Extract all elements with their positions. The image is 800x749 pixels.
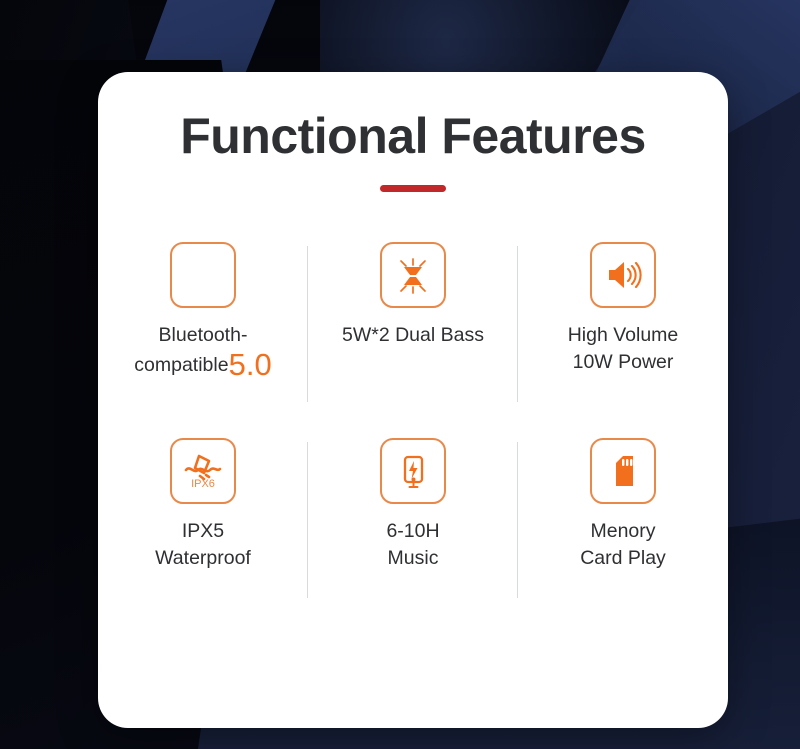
waterproof-icon: IPX6	[170, 438, 236, 504]
bluetooth-icon	[170, 242, 236, 308]
dual-bass-speaker-icon	[380, 242, 446, 308]
feature-grid: Bluetooth- compatible5.0	[98, 234, 728, 626]
feature-item-waterproof: IPX6 IPX5 Waterproof	[98, 430, 308, 626]
feature-label-waterproof: IPX5 Waterproof	[155, 518, 251, 573]
feature-label-bluetooth-version: 5.0	[229, 347, 272, 382]
waterproof-icon-rating: IPX6	[191, 478, 215, 490]
page-title: Functional Features	[98, 110, 728, 163]
title-underline	[98, 185, 728, 192]
feature-card: Functional Features Bluetooth- compatibl…	[98, 72, 728, 728]
feature-label-battery: 6-10H Music	[386, 518, 439, 573]
feature-label-dual-bass: 5W*2 Dual Bass	[342, 322, 484, 350]
battery-charge-icon	[380, 438, 446, 504]
feature-item-bluetooth: Bluetooth- compatible5.0	[98, 234, 308, 430]
feature-label-high-volume: High Volume 10W Power	[568, 322, 679, 377]
high-volume-speaker-icon	[590, 242, 656, 308]
feature-label-memory-card: Menory Card Play	[580, 518, 666, 573]
feature-item-high-volume: High Volume 10W Power	[518, 234, 728, 430]
underline-bar	[380, 185, 446, 192]
feature-item-battery: 6-10H Music	[308, 430, 518, 626]
feature-label-bluetooth: Bluetooth- compatible5.0	[98, 322, 308, 381]
feature-item-dual-bass: 5W*2 Dual Bass	[308, 234, 518, 430]
infographic-stage: Functional Features Bluetooth- compatibl…	[0, 0, 800, 749]
feature-item-memory-card: Menory Card Play	[518, 430, 728, 626]
memory-card-icon	[590, 438, 656, 504]
